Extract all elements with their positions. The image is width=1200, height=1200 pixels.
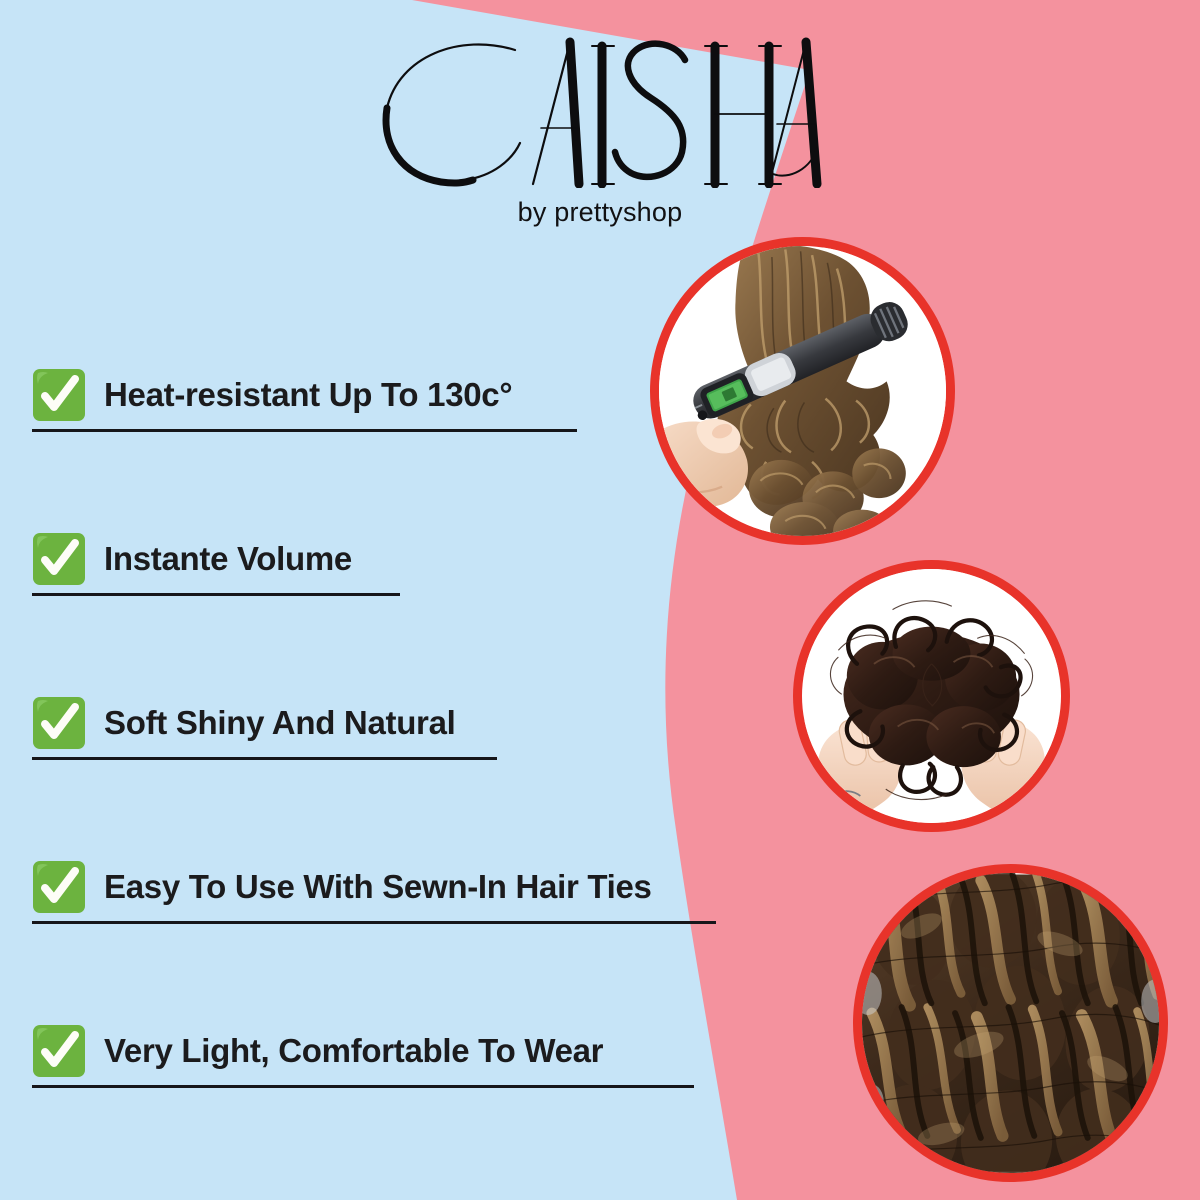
feature-underline	[32, 429, 577, 432]
caisha-wordmark-icon	[365, 28, 835, 188]
feature-item: Easy To Use With Sewn-In Hair Ties	[32, 860, 732, 924]
feature-underline	[32, 921, 716, 924]
feature-label: Instante Volume	[104, 542, 352, 577]
feature-underline	[32, 757, 497, 760]
check-mark-button-icon	[32, 1024, 86, 1078]
check-mark-button-icon	[32, 696, 86, 750]
feature-underline	[32, 593, 400, 596]
feature-underline	[32, 1085, 694, 1088]
check-mark-button-icon	[32, 532, 86, 586]
check-mark-button-icon	[32, 860, 86, 914]
brand-tagline: by prettyshop	[0, 197, 1200, 228]
feature-label: Very Light, Comfortable To Wear	[104, 1034, 603, 1069]
feature-label: Heat-resistant Up To 130c°	[104, 378, 512, 413]
product-photo-scrunchie	[793, 560, 1070, 832]
product-photo-curl-texture	[853, 864, 1168, 1182]
feature-list: Heat-resistant Up To 130c° Instante Volu…	[32, 368, 732, 1088]
feature-item: Soft Shiny And Natural	[32, 696, 732, 760]
feature-label: Soft Shiny And Natural	[104, 706, 456, 741]
infographic-canvas: by prettyshop Heat-resistant Up To 130c°	[0, 0, 1200, 1200]
hair-scrunchie-in-hands-photo	[802, 569, 1061, 823]
feature-label: Easy To Use With Sewn-In Hair Ties	[104, 870, 652, 905]
feature-item: Very Light, Comfortable To Wear	[32, 1024, 732, 1088]
brand-logo: by prettyshop	[0, 28, 1200, 228]
feature-item: Heat-resistant Up To 130c°	[32, 368, 732, 432]
curly-hair-texture-photo	[862, 873, 1159, 1173]
feature-item: Instante Volume	[32, 532, 732, 596]
check-mark-button-icon	[32, 368, 86, 422]
